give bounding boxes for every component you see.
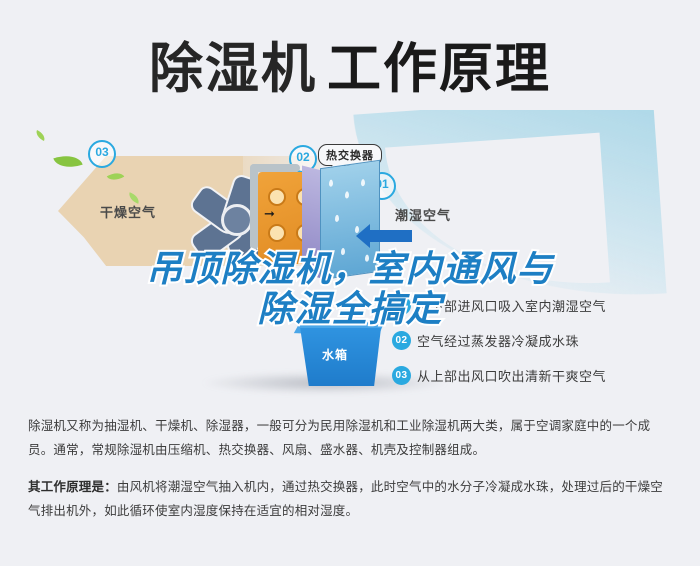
step-text-02: 空气经过蒸发器冷凝成水珠	[417, 331, 579, 350]
step-item-03: 03 从上部出风口吹出清新干爽空气	[392, 366, 692, 385]
badge-03-illustration: 03	[88, 140, 116, 168]
refrigerant-pipe	[250, 164, 300, 172]
paragraph-1: 除湿机又称为抽湿机、干燥机、除湿器，一般可分为民用除湿机和工业除湿机两大类，属于…	[28, 414, 674, 463]
step-badge-01: 01	[392, 296, 411, 315]
paragraph-2: 其工作原理是：由风机将潮湿空气抽入机内，通过热交换器，此时空气中的水分子冷凝成水…	[28, 475, 674, 524]
step-item-02: 02 空气经过蒸发器冷凝成水珠	[392, 331, 692, 350]
page-title: 除湿机工作原理	[0, 24, 700, 103]
heat-exchanger-label: 热交换器	[326, 150, 374, 162]
evaporator-block	[320, 160, 380, 280]
paragraph-2-text: 由风机将潮湿空气抽入机内，通过热交换器，此时空气中的水分子冷凝成水珠，处理过后的…	[28, 480, 663, 518]
infographic-page: 除湿机工作原理 03 02 01 热交换器 干燥空气 潮湿空气	[0, 0, 700, 566]
leaf-icon	[53, 150, 82, 172]
title-part-secondary: 工作原理	[327, 37, 551, 100]
dry-air-label: 干燥空气	[100, 202, 156, 221]
flow-arrow-right-icon: ➞	[264, 206, 275, 222]
paragraph-2-lead: 其工作原理是：	[28, 480, 117, 494]
step-badge-02: 02	[392, 331, 411, 350]
step-item-01: 01 从下部进风口吸入室内潮湿空气	[392, 296, 692, 315]
coil-port	[268, 188, 286, 206]
fan-hub	[221, 204, 253, 236]
water-tank-label: 水箱	[322, 346, 348, 363]
step-badge-03: 03	[392, 366, 411, 385]
humid-air-label: 潮湿空气	[395, 205, 451, 224]
water-droplet-icon	[345, 191, 349, 199]
water-droplet-icon	[365, 254, 369, 262]
water-droplet-icon	[361, 179, 365, 187]
intake-arrow-icon	[370, 230, 412, 242]
leaf-icon	[34, 130, 47, 141]
step-text-03: 从上部出风口吹出清新干爽空气	[417, 366, 606, 385]
evaporator-side-panel	[302, 166, 322, 279]
coil-port	[268, 224, 286, 242]
water-droplet-icon	[335, 215, 339, 223]
step-text-01: 从下部进风口吸入室内潮湿空气	[417, 296, 606, 315]
step-list: 01 从下部进风口吸入室内潮湿空气 02 空气经过蒸发器冷凝成水珠 03 从上部…	[392, 296, 692, 401]
title-part-primary: 除湿机	[149, 37, 317, 100]
refrigerant-pipe	[250, 164, 258, 250]
body-copy: 除湿机又称为抽湿机、干燥机、除湿器，一般可分为民用除湿机和工业除湿机两大类，属于…	[28, 414, 674, 536]
water-droplet-icon	[329, 179, 333, 187]
water-droplet-icon	[341, 248, 345, 256]
